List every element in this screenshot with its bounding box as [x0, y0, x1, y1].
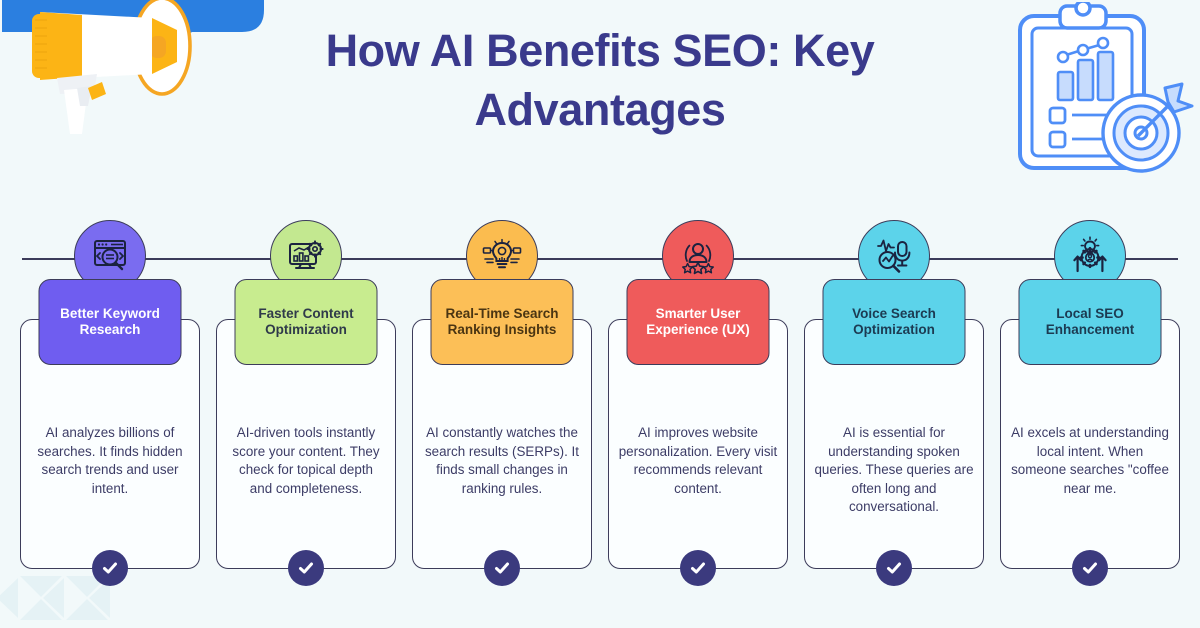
step-body-1: AI analyzes billions of searches. It fin… [30, 424, 190, 498]
step-chip-5[interactable]: Voice Search Optimization [823, 279, 966, 365]
check-icon [492, 558, 512, 578]
infographic-canvas: How AI Benefits SEO: Key Advantages [0, 0, 1200, 628]
step-check-badge-3 [484, 550, 520, 586]
step-column-5: Voice Search Optimization AI is essentia… [804, 220, 984, 569]
step-body-2: AI-driven tools instantly score your con… [226, 424, 386, 498]
step-chip-2[interactable]: Faster Content Optimization [235, 279, 378, 365]
step-body-3: AI constantly watches the search results… [422, 424, 582, 498]
check-icon [884, 558, 904, 578]
step-card-3: Real-Time Search Ranking Insights AI con… [412, 319, 592, 569]
step-card-5: Voice Search Optimization AI is essentia… [804, 319, 984, 569]
step-title-3: Real-Time Search Ranking Insights [440, 306, 565, 339]
lightbulb-network-icon [481, 235, 523, 277]
steps-row: Better Keyword Research AI analyzes bill… [20, 220, 1180, 569]
step-column-2: Faster Content Optimization AI-driven to… [216, 220, 396, 569]
step-title-2: Faster Content Optimization [244, 306, 369, 339]
step-title-4: Smarter User Experience (UX) [636, 306, 761, 339]
clipboard-target-illustration [996, 2, 1196, 184]
step-chip-3[interactable]: Real-Time Search Ranking Insights [431, 279, 574, 365]
check-icon [1080, 558, 1100, 578]
step-card-2: Faster Content Optimization AI-driven to… [216, 319, 396, 569]
step-chip-6[interactable]: Local SEO Enhancement [1019, 279, 1162, 365]
step-check-badge-2 [288, 550, 324, 586]
browser-search-icon [89, 235, 131, 277]
step-check-badge-6 [1072, 550, 1108, 586]
step-column-1: Better Keyword Research AI analyzes bill… [20, 220, 200, 569]
step-card-1: Better Keyword Research AI analyzes bill… [20, 319, 200, 569]
step-check-badge-1 [92, 550, 128, 586]
check-icon [688, 558, 708, 578]
step-check-badge-5 [876, 550, 912, 586]
step-body-6: AI excels at understanding local intent.… [1010, 424, 1170, 498]
step-chip-1[interactable]: Better Keyword Research [39, 279, 182, 365]
page-title: How AI Benefits SEO: Key Advantages [240, 22, 960, 139]
step-check-badge-4 [680, 550, 716, 586]
megaphone-illustration [2, 0, 267, 139]
monitor-gear-chart-icon [285, 235, 327, 277]
check-icon [100, 558, 120, 578]
step-body-4: AI improves website personalization. Eve… [618, 424, 778, 498]
lightbulb-gear-growth-icon [1069, 235, 1111, 277]
step-column-6: Local SEO Enhancement AI excels at under… [1000, 220, 1180, 569]
step-chip-4[interactable]: Smarter User Experience (UX) [627, 279, 770, 365]
check-icon [296, 558, 316, 578]
step-title-6: Local SEO Enhancement [1028, 306, 1153, 339]
microphone-voice-search-icon [873, 235, 915, 277]
step-title-5: Voice Search Optimization [832, 306, 957, 339]
page-title-text: How AI Benefits SEO: Key Advantages [240, 22, 960, 139]
user-stars-rating-icon [677, 235, 719, 277]
step-card-6: Local SEO Enhancement AI excels at under… [1000, 319, 1180, 569]
step-body-5: AI is essential for understanding spoken… [814, 424, 974, 517]
step-title-1: Better Keyword Research [48, 306, 173, 339]
step-column-4: Smarter User Experience (UX) AI improves… [608, 220, 788, 569]
step-card-4: Smarter User Experience (UX) AI improves… [608, 319, 788, 569]
step-column-3: Real-Time Search Ranking Insights AI con… [412, 220, 592, 569]
